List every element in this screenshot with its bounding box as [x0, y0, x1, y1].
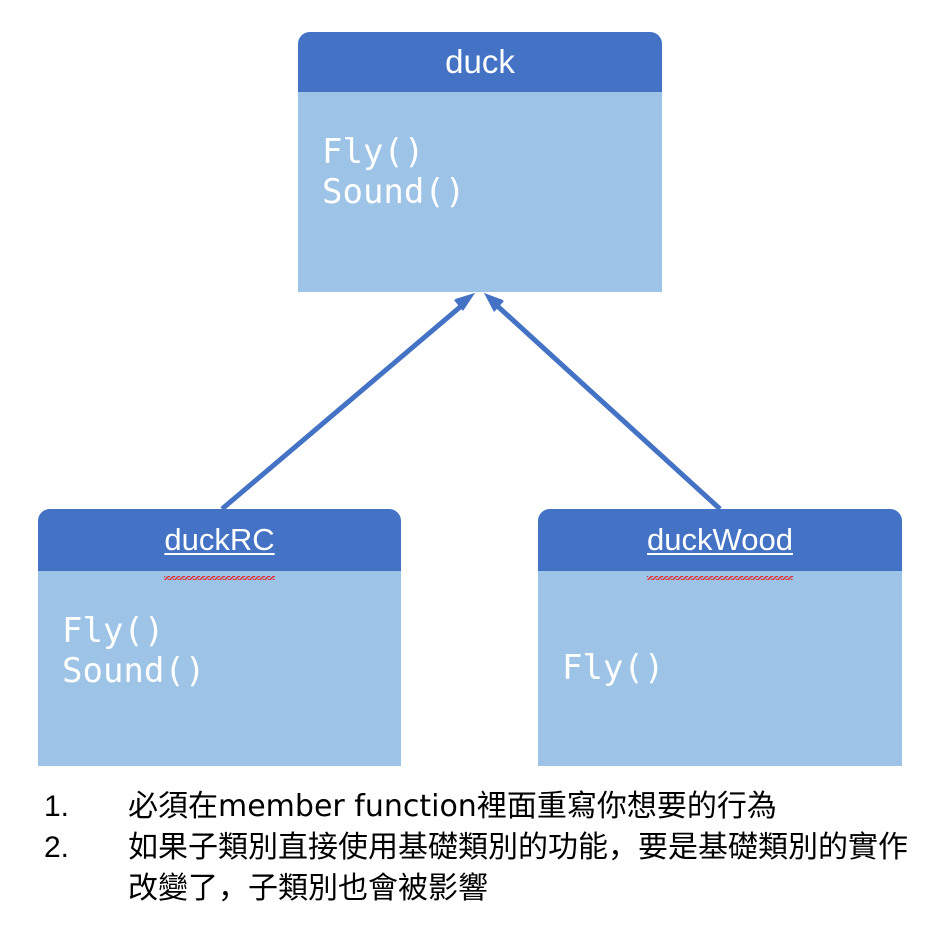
class-methods-duckrc: Fly() Sound(): [38, 571, 401, 691]
note-item-1: 1. 必須在member function裡面重寫你想要的行為: [44, 786, 924, 827]
notes-list: 1. 必須在member function裡面重寫你想要的行為 2. 如果子類別…: [44, 786, 924, 909]
diagram-canvas: duck Fly() Sound() duckRC Fly() Sound() …: [0, 0, 939, 940]
note-item-2: 2. 如果子類別直接使用基礎類別的功能，要是基礎類別的實作改變了，子類別也會被影…: [44, 827, 924, 909]
note-text-1: 必須在member function裡面重寫你想要的行為: [128, 786, 924, 827]
inheritance-arrow-duckwood-to-duck: [484, 293, 720, 509]
inheritance-arrow-duckrc-to-duck: [222, 293, 475, 509]
note-marker-1: 1.: [44, 786, 128, 827]
note-text-2: 如果子類別直接使用基礎類別的功能，要是基礎類別的實作改變了，子類別也會被影響: [128, 827, 924, 909]
class-name-duckrc: duckRC: [164, 509, 274, 571]
note-marker-2: 2.: [44, 827, 128, 868]
class-header-duck: duck: [298, 32, 662, 92]
class-name-duckwood: duckWood: [647, 509, 793, 571]
class-header-duckrc: duckRC: [38, 509, 401, 571]
class-box-duck[interactable]: duck Fly() Sound(): [298, 32, 662, 292]
class-box-duckrc[interactable]: duckRC Fly() Sound(): [38, 509, 401, 766]
class-methods-duck: Fly() Sound(): [298, 92, 662, 212]
class-methods-duckwood: Fly(): [538, 571, 902, 688]
class-name-duck: duck: [445, 32, 515, 92]
class-box-duckwood[interactable]: duckWood Fly(): [538, 509, 902, 766]
class-header-duckwood: duckWood: [538, 509, 902, 571]
